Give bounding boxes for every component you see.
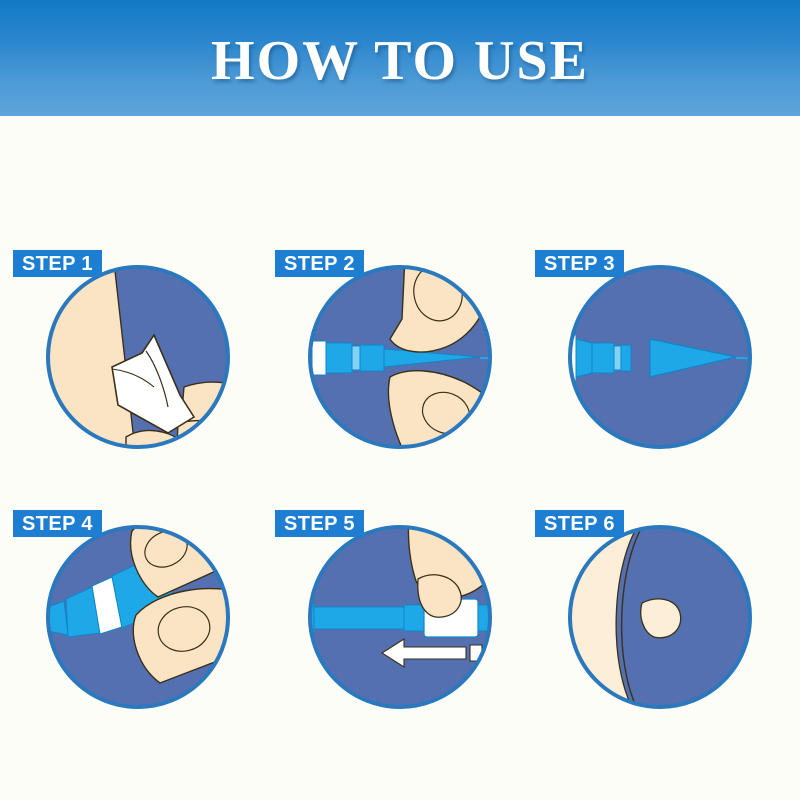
applicator-collar <box>360 345 384 371</box>
finger-knuckle-1 <box>480 530 521 571</box>
skin-surface <box>8 507 26 731</box>
applicator-white-band <box>312 341 326 375</box>
applicator-end <box>552 337 562 379</box>
step-card-3: STEP 3 <box>530 227 790 487</box>
steps-grid: STEP 1 <box>0 116 800 800</box>
applicator-ring <box>614 346 621 370</box>
applicator-barrel <box>314 607 404 629</box>
step-card-2: STEP 2 <box>270 227 530 487</box>
applicator-collar <box>621 345 631 371</box>
applicator-neck <box>48 601 68 635</box>
step-6-label: STEP 6 <box>535 510 624 537</box>
header-banner: HOW TO USE <box>0 0 800 116</box>
applicator-shoulder <box>404 605 424 631</box>
thumb <box>126 430 199 487</box>
step-1-label: STEP 1 <box>13 250 102 277</box>
step-4-label: STEP 4 <box>13 510 102 537</box>
step-card-5: STEP 5 <box>270 487 530 747</box>
step-3-label: STEP 3 <box>535 250 624 277</box>
finger-knuckle-2 <box>493 565 528 602</box>
skin-edge <box>28 521 48 717</box>
step-card-4: STEP 4 <box>8 487 268 747</box>
applicator-shoulder <box>576 339 592 377</box>
step-5-label: STEP 5 <box>275 510 364 537</box>
step-2-label: STEP 2 <box>275 250 364 277</box>
step-card-6: STEP 6 <box>530 487 790 747</box>
applicator-mid <box>592 343 614 373</box>
applicator-mid <box>326 343 352 373</box>
applied-bump <box>641 599 681 638</box>
applicator-tip <box>288 603 304 633</box>
applicator-ring <box>352 346 360 370</box>
skin-surface <box>270 513 285 723</box>
page-title: HOW TO USE <box>211 33 589 89</box>
fingers-lower <box>176 421 258 467</box>
step-card-1: STEP 1 <box>8 227 268 487</box>
